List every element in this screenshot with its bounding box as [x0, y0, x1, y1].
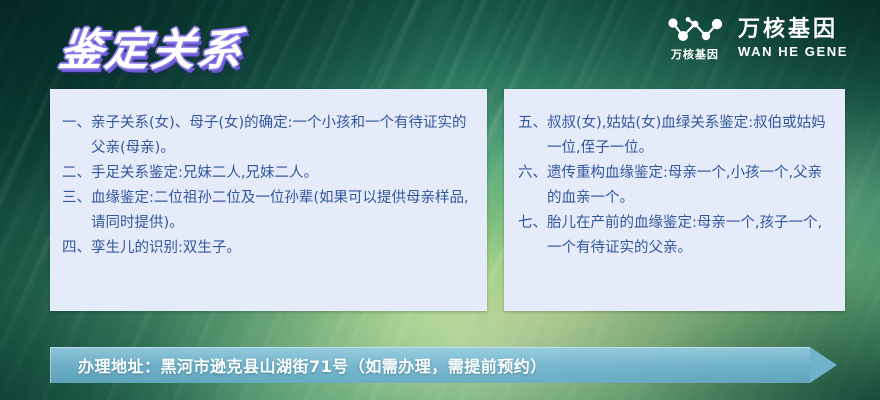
list-item-text: 叔叔(女),姑姑(女)血绿关系鉴定:叔伯或姑妈一位,侄子一位。	[547, 111, 835, 161]
list-item-text: 亲子关系(女)、母子(女)的确定:一个小孩和一个有待证实的父亲(母亲)。	[91, 111, 475, 161]
address-text: 办理地址：黑河市逊克县山湖街71号（如需办理，需提前预约）	[78, 347, 547, 383]
list-item: 五、 叔叔(女),姑姑(女)血绿关系鉴定:叔伯或姑妈一位,侄子一位。	[518, 111, 835, 161]
list-item: 六、 遗传重构血缘鉴定:母亲一个,小孩一个,父亲的血亲一个。	[518, 161, 835, 211]
list-item: 三、 血缘鉴定:二位祖孙二位及一位孙辈(如果可以提供母亲样品,请同时提供)。	[62, 186, 475, 236]
list-item-number: 二、	[62, 161, 91, 186]
brand-logo: 万核基因 万核基因 WAN HE GENE	[666, 16, 848, 60]
brand-mark-label: 万核基因	[671, 49, 719, 60]
brand-mark: 万核基因	[666, 16, 724, 60]
list-item-text: 血缘鉴定:二位祖孙二位及一位孙辈(如果可以提供母亲样品,请同时提供)。	[91, 186, 475, 236]
slide-canvas: 鉴定关系	[0, 0, 880, 400]
brand-text: 万核基因 WAN HE GENE	[738, 18, 848, 57]
list-item-text: 胎儿在产前的血缘鉴定:母亲一个,孩子一个,一个有待证实的父亲。	[547, 211, 835, 261]
list-item-number: 五、	[518, 111, 547, 136]
list-item-number: 七、	[518, 211, 547, 236]
list-item-text: 遗传重构血缘鉴定:母亲一个,小孩一个,父亲的血亲一个。	[547, 161, 835, 211]
list-item-text: 手足关系鉴定:兄妹二人,兄妹二人。	[91, 161, 475, 186]
list-item-text: 孪生儿的识别:双生子。	[91, 236, 475, 261]
list-item: 七、 胎儿在产前的血缘鉴定:母亲一个,孩子一个,一个有待证实的父亲。	[518, 211, 835, 261]
brand-name-en: WAN HE GENE	[738, 45, 848, 58]
address-banner: 办理地址：黑河市逊克县山湖街71号（如需办理，需提前预约）	[50, 347, 845, 383]
list-item: 四、 孪生儿的识别:双生子。	[62, 236, 475, 261]
list-item: 一、 亲子关系(女)、母子(女)的确定:一个小孩和一个有待证实的父亲(母亲)。	[62, 111, 475, 161]
list-item-number: 四、	[62, 236, 91, 261]
page-title: 鉴定关系	[56, 14, 248, 78]
list-item-number: 一、	[62, 111, 91, 136]
arrow-right-icon	[810, 347, 837, 383]
panel-left: 一、 亲子关系(女)、母子(女)的确定:一个小孩和一个有待证实的父亲(母亲)。 …	[50, 89, 487, 311]
molecule-network-icon	[666, 16, 724, 46]
list-item-number: 三、	[62, 186, 91, 211]
list-item-number: 六、	[518, 161, 547, 186]
list-item: 二、 手足关系鉴定:兄妹二人,兄妹二人。	[62, 161, 475, 186]
content-panels: 一、 亲子关系(女)、母子(女)的确定:一个小孩和一个有待证实的父亲(母亲)。 …	[50, 89, 845, 311]
panel-right: 五、 叔叔(女),姑姑(女)血绿关系鉴定:叔伯或姑妈一位,侄子一位。 六、 遗传…	[504, 89, 845, 311]
brand-name-cn: 万核基因	[738, 18, 848, 41]
